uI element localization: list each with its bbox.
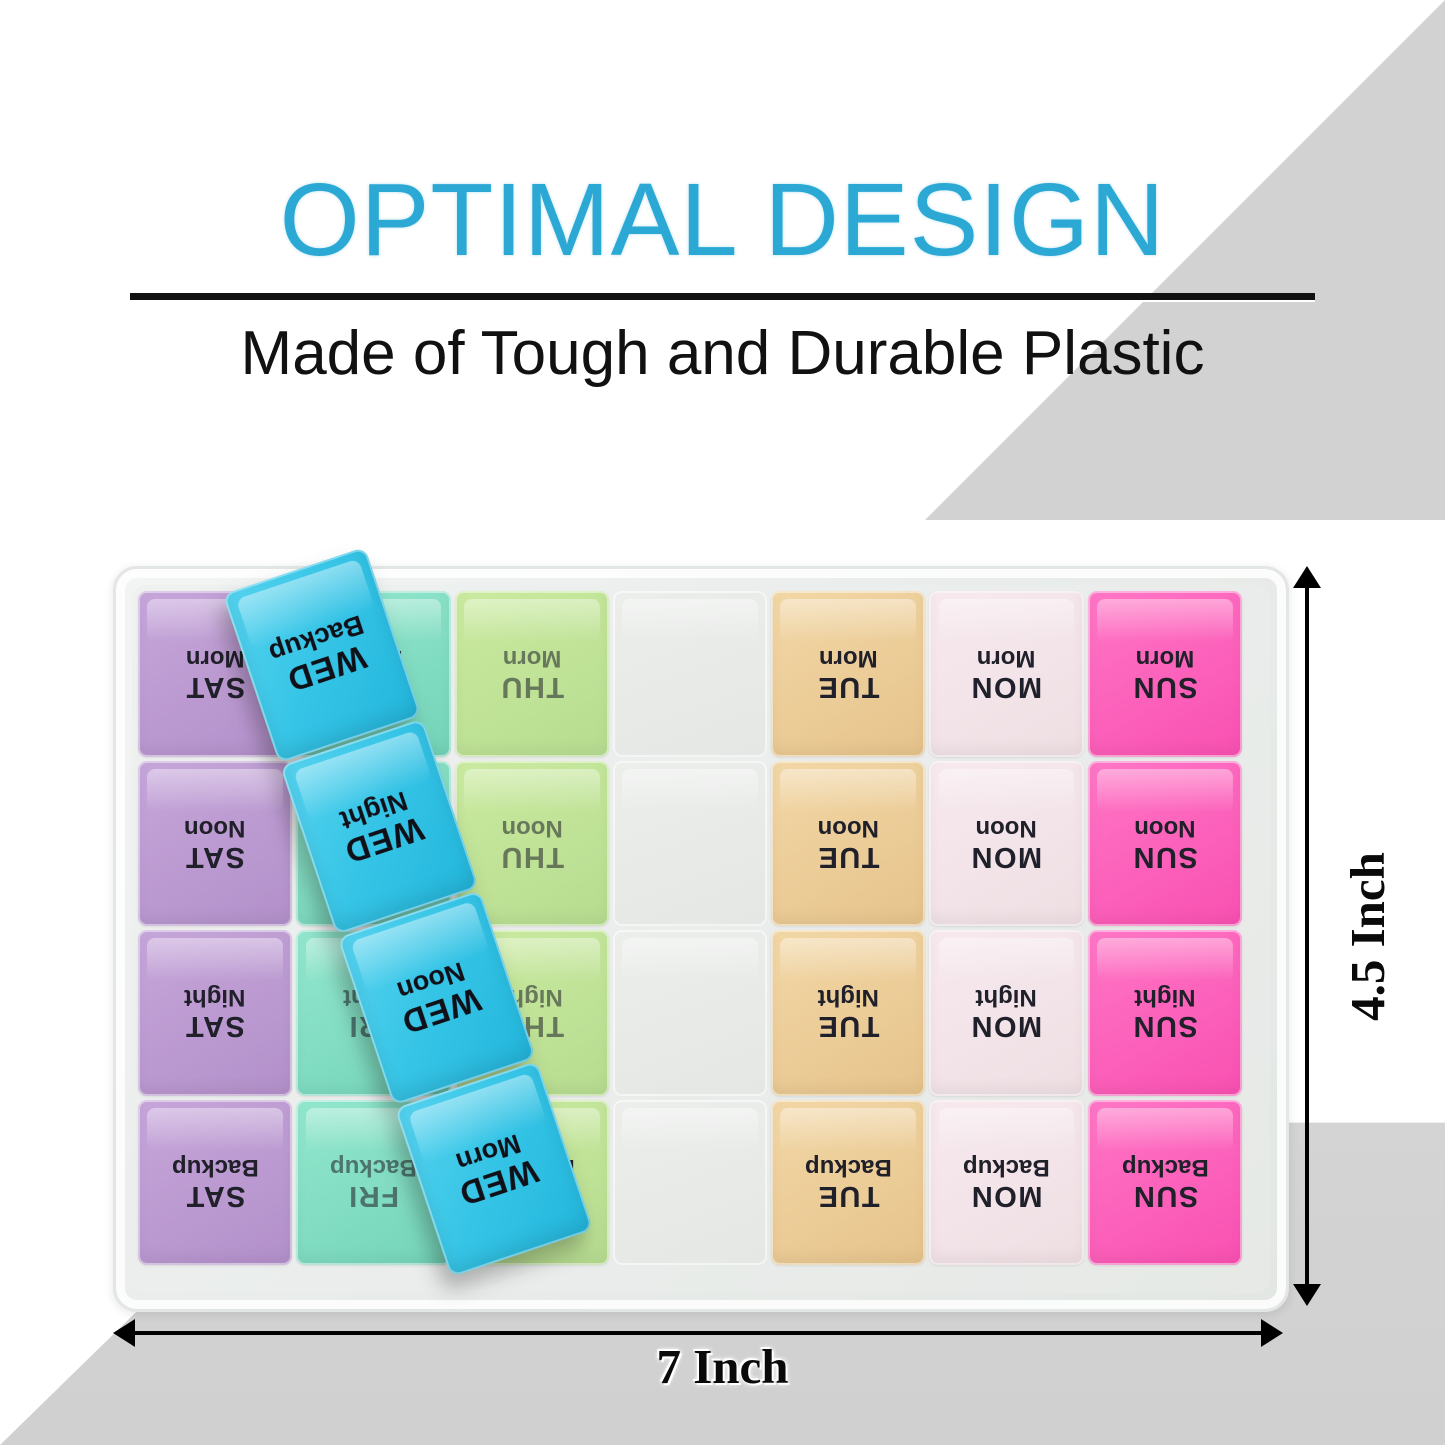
compartment-label: MON Backup: [963, 1155, 1050, 1210]
compartment-slot: Noon: [970, 816, 1042, 840]
compartment-label: WED Night: [331, 784, 428, 869]
compartment-label: SAT Night: [184, 985, 245, 1040]
compartment-day: SUN: [1122, 1180, 1209, 1210]
compartment-slot: Morn: [1132, 646, 1198, 670]
compartment-sun-backup[interactable]: SUN Backup: [1088, 1100, 1242, 1266]
compartment-day: SAT: [185, 672, 245, 702]
compartment-label: WED Backup: [266, 610, 378, 700]
compartment-day: TUE: [817, 1011, 880, 1041]
compartment-slot: Night: [184, 985, 245, 1009]
compartment-tue-morn[interactable]: TUE Morn: [771, 591, 925, 757]
compartment-day: SAT: [172, 1180, 259, 1210]
compartment-label: SAT Morn: [185, 646, 245, 701]
compartment-wed-morn-slot-empty[interactable]: [613, 591, 767, 757]
compartment-day: MON: [963, 1180, 1050, 1210]
compartment-slot: Morn: [817, 646, 880, 670]
compartment-slot: Morn: [970, 646, 1042, 670]
compartment-slot: Night: [817, 985, 880, 1009]
compartment-sat-noon[interactable]: SAT Noon: [138, 761, 292, 927]
compartment-label: MON Night: [970, 985, 1042, 1040]
compartment-sun-night[interactable]: SUN Night: [1088, 930, 1242, 1096]
dimension-line: [125, 1331, 1271, 1335]
compartment-label: WED Morn: [446, 1127, 543, 1212]
compartment-slot: Noon: [1132, 816, 1198, 840]
compartment-day: MON: [970, 841, 1042, 871]
compartment-sun-noon[interactable]: SUN Noon: [1088, 761, 1242, 927]
compartment-sat-backup[interactable]: SAT Backup: [138, 1100, 292, 1266]
compartment-mon-noon[interactable]: MON Noon: [929, 761, 1083, 927]
compartment-tue-backup[interactable]: TUE Backup: [771, 1100, 925, 1266]
compartment-mon-backup[interactable]: MON Backup: [929, 1100, 1083, 1266]
width-dimension-label: 7 Inch: [0, 1338, 1445, 1395]
compartment-sun-morn[interactable]: SUN Morn: [1088, 591, 1242, 757]
page-subtitle: Made of Tough and Durable Plastic: [0, 318, 1445, 389]
infographic-canvas: OPTIMAL DESIGN Made of Tough and Durable…: [0, 0, 1445, 1445]
header-divider: [130, 293, 1315, 300]
compartment-day: TUE: [805, 1180, 892, 1210]
compartment-wed-backup-slot-empty[interactable]: [613, 1100, 767, 1266]
compartment-label: THU Noon: [500, 816, 564, 871]
compartment-label: TUE Morn: [817, 646, 880, 701]
compartment-day: THU: [500, 841, 564, 871]
height-dimension-arrow: [1286, 566, 1326, 1306]
compartment-label: MON Noon: [970, 816, 1042, 871]
compartment-slot: Morn: [500, 646, 564, 670]
compartment-label: THU Morn: [500, 646, 564, 701]
compartment-day: SUN: [1132, 1011, 1198, 1041]
compartment-slot: Backup: [1122, 1155, 1209, 1179]
compartment-mon-morn[interactable]: MON Morn: [929, 591, 1083, 757]
compartment-slot: Noon: [817, 816, 880, 840]
compartment-slot: Noon: [184, 816, 245, 840]
compartment-label: TUE Noon: [817, 816, 880, 871]
compartment-label: SUN Night: [1132, 985, 1198, 1040]
height-dimension-label-wrap: 4.5 Inch: [1322, 566, 1412, 1306]
compartment-label: SAT Backup: [172, 1155, 259, 1210]
header-block: OPTIMAL DESIGN Made of Tough and Durable…: [0, 0, 1445, 389]
compartment-slot: Noon: [500, 816, 564, 840]
compartment-day: FRI: [330, 1180, 417, 1210]
compartment-thu-morn[interactable]: THU Morn: [455, 591, 609, 757]
compartment-tue-noon[interactable]: TUE Noon: [771, 761, 925, 927]
compartment-label: FRI Backup: [330, 1155, 417, 1210]
compartment-day: MON: [970, 1011, 1042, 1041]
compartment-label: SUN Backup: [1122, 1155, 1209, 1210]
compartment-day: TUE: [817, 672, 880, 702]
compartment-label: TUE Backup: [805, 1155, 892, 1210]
compartment-slot: Backup: [172, 1155, 259, 1179]
compartment-label: TUE Night: [817, 985, 880, 1040]
height-dimension-label: 4.5 Inch: [1339, 852, 1396, 1021]
compartment-day: SUN: [1132, 672, 1198, 702]
dimension-line: [1305, 578, 1309, 1294]
compartment-wed-noon-slot-empty[interactable]: [613, 761, 767, 927]
compartment-mon-night[interactable]: MON Night: [929, 930, 1083, 1096]
compartment-day: SAT: [184, 841, 245, 871]
compartment-day: SUN: [1132, 841, 1198, 871]
compartment-day: TUE: [817, 841, 880, 871]
compartment-label: MON Morn: [970, 646, 1042, 701]
page-title: OPTIMAL DESIGN: [0, 168, 1445, 271]
compartment-slot: Backup: [805, 1155, 892, 1179]
compartment-sat-night[interactable]: SAT Night: [138, 930, 292, 1096]
arrow-down-icon: [1293, 1284, 1321, 1306]
compartment-label: SUN Morn: [1132, 646, 1198, 701]
compartment-slot: Night: [970, 985, 1042, 1009]
compartment-tue-night[interactable]: TUE Night: [771, 930, 925, 1096]
compartment-label: SUN Noon: [1132, 816, 1198, 871]
compartment-slot: Morn: [185, 646, 245, 670]
compartment-slot: Backup: [963, 1155, 1050, 1179]
compartment-day: SAT: [184, 1011, 245, 1041]
compartment-slot: Backup: [330, 1155, 417, 1179]
compartment-label: SAT Noon: [184, 816, 245, 871]
compartment-slot: Night: [1132, 985, 1198, 1009]
compartment-day: THU: [500, 672, 564, 702]
compartment-day: MON: [970, 672, 1042, 702]
compartment-label: WED Noon: [388, 955, 485, 1040]
compartment-wed-night-slot-empty[interactable]: [613, 930, 767, 1096]
